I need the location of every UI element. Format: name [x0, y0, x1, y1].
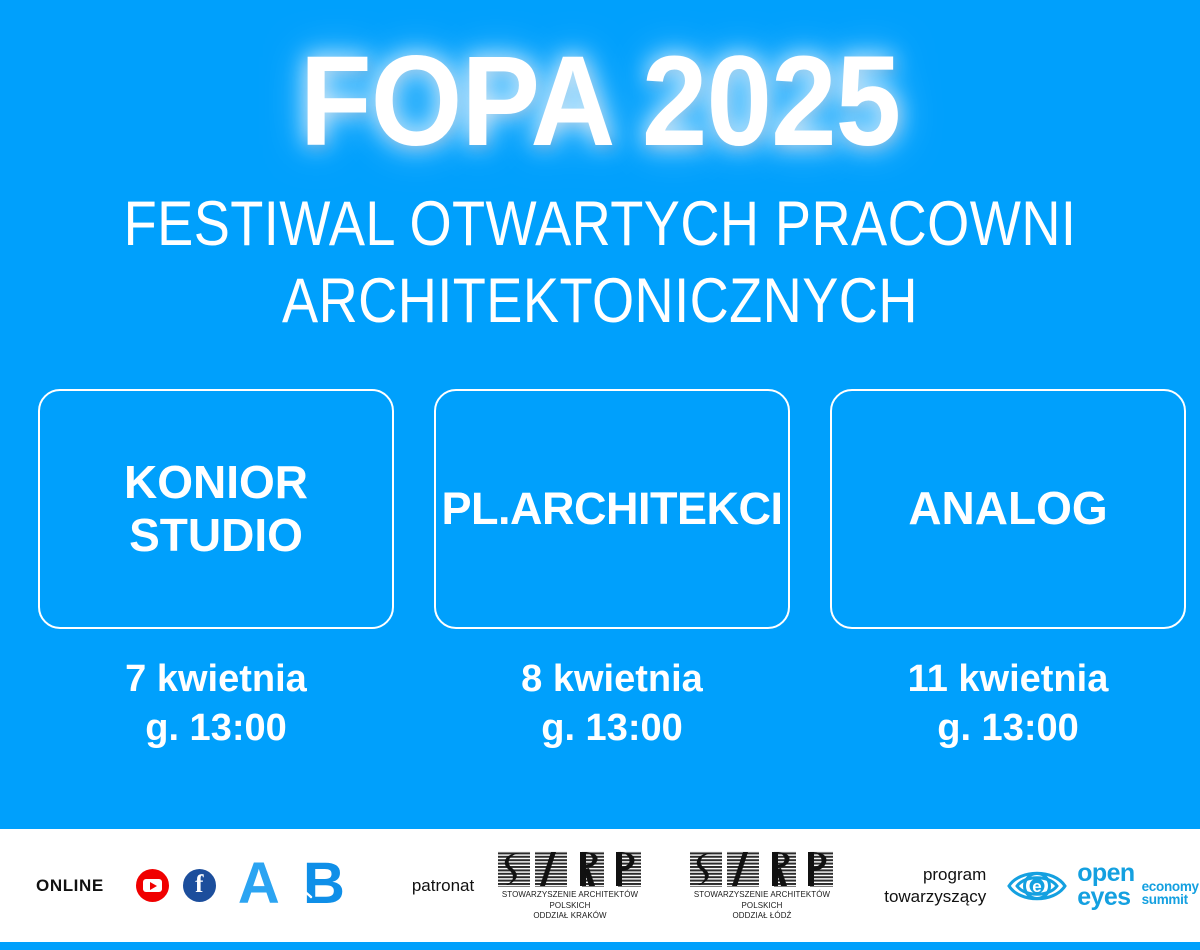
- play-triangle-icon: [150, 882, 157, 890]
- ab-logo[interactable]: A B: [238, 859, 346, 913]
- sarp-logo-krakow[interactable]: STOWARZYSZENIE ARCHITEKTÓW POLSKICH ODDZ…: [496, 849, 644, 922]
- venue-date-konior-studio: 7 kwietnia g. 13:00: [38, 655, 394, 752]
- open-eyes-logo[interactable]: e open eyes economy summit: [1006, 862, 1199, 909]
- title-block: FOPA 2025: [0, 38, 1200, 166]
- facebook-icon[interactable]: f: [183, 869, 216, 902]
- date-day: 7 kwietnia: [38, 655, 394, 704]
- subtitle-line-2: ARCHITEKTONICZNYCH: [84, 263, 1116, 340]
- date-day: 8 kwietnia: [434, 655, 790, 704]
- footer-group-sarp-lodz: STOWARZYSZENIE ARCHITEKTÓW POLSKICH ODDZ…: [666, 829, 836, 942]
- youtube-icon-body: [143, 879, 162, 892]
- venue-card-konior-studio[interactable]: KONIOR STUDIO: [38, 389, 394, 629]
- open-eyes-main-text: open eyes: [1077, 862, 1134, 909]
- subtitle-line-1: FESTIWAL OTWARTYCH PRACOWNI: [84, 186, 1116, 263]
- poster-root: FOPA 2025 FESTIWAL OTWARTYCH PRACOWNI AR…: [0, 0, 1200, 950]
- youtube-icon[interactable]: [136, 869, 169, 902]
- bottom-accent-bar: [0, 942, 1200, 950]
- venue-card-label: KONIOR STUDIO: [116, 456, 316, 563]
- footer-group-online: ONLINE f A B: [36, 829, 346, 942]
- venue-card-pl-architekci[interactable]: PL.ARCHITEKCI: [434, 389, 790, 629]
- patronat-label: patronat: [412, 875, 474, 896]
- footer-group-program: program towarzyszący e open eyes: [884, 829, 1199, 942]
- ab-logo-ampersand-icon: [278, 865, 318, 909]
- date-time: g. 13:00: [38, 704, 394, 753]
- program-label: program towarzyszący: [884, 864, 986, 907]
- footer-group-patronat: patronat: [412, 829, 644, 942]
- date-day: 11 kwietnia: [830, 655, 1186, 704]
- venue-date-list: 7 kwietnia g. 13:00 8 kwietnia g. 13:00 …: [38, 655, 1186, 752]
- venue-card-list: KONIOR STUDIO PL.ARCHITEKCI ANALOG: [38, 389, 1186, 629]
- open-eyes-line-2: eyes: [1077, 886, 1134, 909]
- hero-section: FOPA 2025 FESTIWAL OTWARTYCH PRACOWNI AR…: [0, 0, 1200, 829]
- sarp-caption: STOWARZYSZENIE ARCHITEKTÓW POLSKICH ODDZ…: [498, 890, 642, 922]
- sarp-logo-lodz[interactable]: STOWARZYSZENIE ARCHITEKTÓW POLSKICH ODDZ…: [688, 849, 836, 922]
- open-eyes-sub-2: summit: [1142, 893, 1199, 907]
- sarp-mark-icon: [496, 849, 644, 889]
- ab-logo-letter-a: A: [238, 851, 277, 916]
- open-eyes-line-1: open: [1077, 862, 1134, 885]
- sarp-caption: STOWARZYSZENIE ARCHITEKTÓW POLSKICH ODDZ…: [690, 890, 834, 922]
- footer-bar: ONLINE f A B patronat: [0, 829, 1200, 942]
- subtitle-block: FESTIWAL OTWARTYCH PRACOWNI ARCHITEKTONI…: [0, 186, 1200, 340]
- venue-card-analog[interactable]: ANALOG: [830, 389, 1186, 629]
- open-eyes-sub-1: economy: [1142, 880, 1199, 894]
- venue-date-analog: 11 kwietnia g. 13:00: [830, 655, 1186, 752]
- open-eyes-sub-text: economy summit: [1142, 880, 1199, 907]
- venue-card-label: PL.ARCHITEKCI: [434, 483, 791, 535]
- open-eyes-wordmark: open eyes economy summit: [1077, 862, 1199, 909]
- date-time: g. 13:00: [830, 704, 1186, 753]
- venue-date-pl-architekci: 8 kwietnia g. 13:00: [434, 655, 790, 752]
- sarp-mark-icon: [688, 849, 836, 889]
- online-label: ONLINE: [36, 876, 104, 896]
- venue-card-label: ANALOG: [900, 482, 1115, 535]
- page-title: FOPA 2025: [48, 38, 1152, 166]
- date-time: g. 13:00: [434, 704, 790, 753]
- svg-text:e: e: [1033, 877, 1042, 896]
- eye-icon: e: [1006, 864, 1068, 908]
